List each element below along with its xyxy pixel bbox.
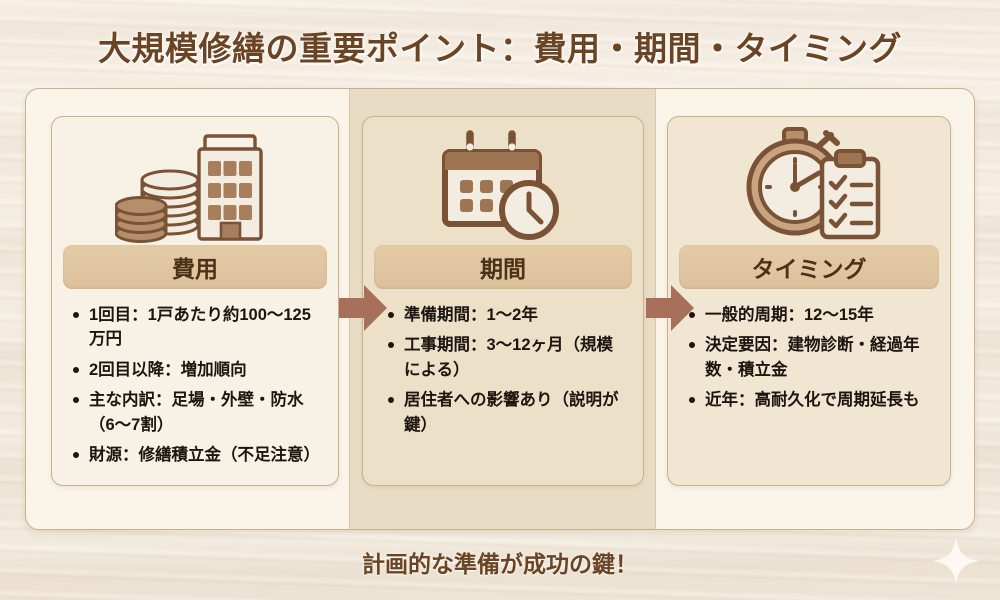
list-item: 財源：修繕積立金（不足注意） (72, 443, 324, 467)
card-duration[interactable]: 期間 準備期間：1〜2年 工事期間：3〜12ヶ月（規模による） 居住者への影響あ… (362, 116, 644, 486)
list-item: 一般的周期：12〜15年 (688, 303, 936, 327)
bullet-list-timing: 一般的周期：12〜15年 決定要因：建物診断・経過年数・積立金 近年：高耐久化で… (668, 303, 950, 413)
calendar-clock-icon (363, 117, 643, 245)
bullet-list-duration: 準備期間：1〜2年 工事期間：3〜12ヶ月（規模による） 居住者への影響あり（説… (363, 303, 643, 437)
list-item: 準備期間：1〜2年 (387, 303, 629, 327)
list-item: 1回目：1戸あたり約100〜125万円 (72, 303, 324, 352)
sparkle-icon (930, 535, 982, 587)
list-item: 工事期間：3〜12ヶ月（規模による） (387, 333, 629, 382)
list-item: 2回目以降：増加順向 (72, 358, 324, 382)
infographic-panel: 費用 1回目：1戸あたり約100〜125万円 2回目以降：増加順向 主な内訳：足… (25, 88, 975, 530)
card-cost[interactable]: 費用 1回目：1戸あたり約100〜125万円 2回目以降：増加順向 主な内訳：足… (51, 116, 339, 486)
card-header-timing: タイミング (679, 245, 939, 289)
card-timing[interactable]: タイミング 一般的周期：12〜15年 決定要因：建物診断・経過年数・積立金 近年… (667, 116, 951, 486)
card-row: 費用 1回目：1戸あたり約100〜125万円 2回目以降：増加順向 主な内訳：足… (26, 89, 974, 529)
page-title: 大規模修繕の重要ポイント：費用・期間・タイミング (0, 22, 1000, 70)
arrow-right-icon-2 (646, 285, 694, 331)
list-item: 居住者への影響あり（説明が鍵） (387, 388, 629, 437)
coins-and-building-icon (52, 117, 338, 245)
stopwatch-clipboard-icon (668, 117, 950, 245)
list-item: 近年：高耐久化で周期延長も (688, 388, 936, 412)
card-header-cost: 費用 (63, 245, 327, 289)
list-item: 主な内訳：足場・外壁・防水（6〜7割） (72, 388, 324, 437)
list-item: 決定要因：建物診断・経過年数・積立金 (688, 333, 936, 382)
arrow-right-icon-1 (339, 285, 387, 331)
footer-caption: 計画的な準備が成功の鍵！ (0, 545, 1000, 579)
bullet-list-cost: 1回目：1戸あたり約100〜125万円 2回目以降：増加順向 主な内訳：足場・外… (52, 303, 338, 467)
card-header-duration: 期間 (374, 245, 632, 289)
